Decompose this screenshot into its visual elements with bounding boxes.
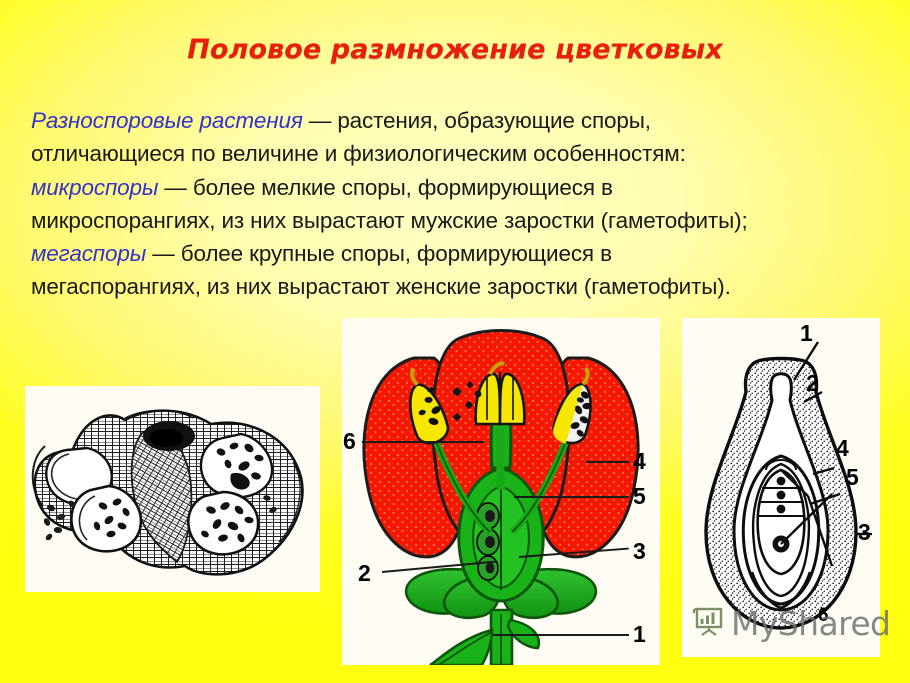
ovule-label-1: 1: [800, 322, 813, 345]
ovule-label-2: 2: [806, 372, 819, 395]
text-line-6: мегаспорангиях, из них вырастают женские…: [31, 270, 879, 303]
flower-label-1: 1: [633, 623, 646, 646]
page-title: Половое размножение цветковых: [0, 34, 910, 65]
flower-label-6: 6: [343, 430, 356, 453]
text-line-4-rest: микроспорангиях, из них вырастают мужски…: [31, 208, 748, 233]
leader-line-1: [493, 634, 629, 636]
text-line-6-rest: мегаспорангиях, из них вырастают женские…: [31, 274, 731, 299]
leader-line-4: [586, 461, 629, 463]
text-line-1: Разноспоровые растения — растения, образ…: [31, 104, 879, 137]
text-line-5-rest: — более крупные споры, формирующиеся в: [146, 241, 612, 266]
term-megaspores: мегаспоры: [31, 241, 146, 266]
text-line-1-rest: — растения, образующие споры,: [303, 108, 651, 133]
text-line-5: мегаспоры — более крупные споры, формиру…: [31, 237, 879, 270]
leader-line-5: [514, 496, 629, 498]
text-line-3: микроспоры — более мелкие споры, формиру…: [31, 171, 879, 204]
body-text-block: Разноспоровые растения — растения, образ…: [31, 104, 879, 304]
flower-label-2: 2: [358, 562, 371, 585]
ovule-label-3: 3: [858, 521, 871, 544]
ovule-label-5: 5: [846, 466, 859, 489]
text-line-4: микроспорангиях, из них вырастают мужски…: [31, 204, 879, 237]
term-heterosporous-plants: Разноспоровые растения: [31, 108, 303, 133]
flower-label-4: 4: [633, 450, 646, 473]
ovule-label-4: 4: [836, 437, 849, 460]
slide-root: Половое размножение цветковых Разноспоро…: [0, 0, 910, 683]
flower-diagram-panel: [342, 318, 660, 665]
text-line-3-rest: — более мелкие споры, формирующиеся в: [158, 175, 613, 200]
text-line-2-rest: отличающиеся по величине и физиологическ…: [31, 141, 686, 166]
page-title-text: Половое размножение цветковых: [187, 34, 723, 65]
flower-label-3: 3: [633, 540, 646, 563]
flower-label-5: 5: [633, 485, 646, 508]
flower-diagram-drawing: [342, 318, 660, 665]
anther-cross-section-drawing: [25, 386, 320, 592]
text-line-2: отличающиеся по величине и физиологическ…: [31, 137, 879, 170]
anther-cross-section-panel: [25, 386, 320, 592]
ovule-label-6: 6: [818, 606, 829, 625]
leader-line-6: [362, 441, 484, 443]
term-microspores: микроспоры: [31, 175, 158, 200]
